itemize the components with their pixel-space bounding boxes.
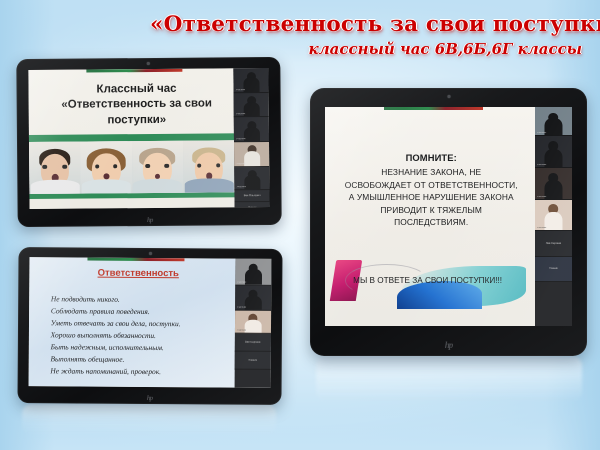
laptop-1-reflection <box>22 404 276 436</box>
webcam-icon <box>147 62 150 65</box>
page-subtitle: классный час 6В,6Б,6Г классы <box>150 40 590 58</box>
child-3 <box>132 140 184 193</box>
slide-1-title: Классный час «Ответственность за свои по… <box>43 81 231 129</box>
participant-thumbnail[interactable]: Участник <box>234 142 269 167</box>
child-4 <box>183 140 235 193</box>
participant-name-tile[interactable]: Ван Ольгович <box>235 190 270 202</box>
collage-title-block: «Ответственность за свои поступки» класс… <box>150 14 590 58</box>
laptop-screen-3: Ответственность Не подводить никого. Соб… <box>29 257 272 388</box>
slide-3-list: Не подводить никого. Соблюдать правила п… <box>50 293 232 378</box>
participant-thumbnail[interactable]: Участник <box>234 117 269 142</box>
slide-2-line-3: А УМЫШЛЕННОЕ НАРУШЕНИЕ ЗАКОНА <box>337 191 525 204</box>
laptop-photo-1: hp Классный час «Ответственность за свои… <box>16 57 281 227</box>
slide-1-children-photo <box>29 140 235 194</box>
child-2 <box>80 141 132 194</box>
laptop-photo-3: hp Ответственность Не подводить никого. … <box>17 247 282 405</box>
hp-logo: hp <box>147 216 152 224</box>
slide-2-line-5: ПОСЛЕДСТВИЯМ. <box>337 216 525 229</box>
participant-name-tile[interactable]: Ученик <box>535 257 572 282</box>
participant-thumbnail[interactable]: Участник <box>235 311 271 334</box>
laptop-screen-1: Классный час «Ответственность за свои по… <box>28 68 269 209</box>
laptop-screen-2: ПОМНИТЕ: НЕЗНАНИЕ ЗАКОНА, НЕ ОСВОБОЖДАЕТ… <box>325 107 572 326</box>
participant-name-tile[interactable]: Ван Сергеев <box>235 334 271 352</box>
participant-thumbnail[interactable]: Участник <box>234 166 269 190</box>
child-1 <box>29 141 81 194</box>
participant-name-tile[interactable]: Ученик <box>234 352 270 370</box>
webcam-icon <box>447 95 450 98</box>
laptop-bezel-3: hp Ответственность Не подводить никого. … <box>17 247 282 405</box>
slide-1-title-line-3: поступки» <box>43 112 230 129</box>
slide-1-title-line-2: «Ответственность за свои <box>43 96 230 113</box>
participant-thumbnail[interactable]: Участник <box>234 93 269 118</box>
slide-2-header: ПОМНИТЕ: <box>337 151 525 165</box>
hp-logo: hp <box>147 394 152 402</box>
zoom-participant-filmstrip-3[interactable]: Участник Участник Участник Ван Сергеев У… <box>234 259 271 388</box>
participant-thumbnail[interactable]: Участник <box>535 136 572 168</box>
page-title: «Ответственность за свои поступки» <box>150 14 590 37</box>
participant-thumbnail[interactable]: Участник <box>235 259 271 286</box>
participant-name-tile[interactable]: Лев Сергеев <box>535 231 572 256</box>
zoom-toolbar-strip <box>384 107 483 110</box>
laptop-bezel-1: hp Классный час «Ответственность за свои… <box>16 57 281 227</box>
laptop-bezel-2: hp ПОМНИТЕ: НЕЗНАНИЕ ЗАКОНА, НЕ ОСВОБОЖД… <box>310 88 587 356</box>
slide-2-line-1: НЕЗНАНИЕ ЗАКОНА, НЕ <box>337 166 525 179</box>
participant-name-tile[interactable]: Ученик <box>235 202 270 209</box>
participant-thumbnail[interactable]: Участник <box>535 200 572 232</box>
zoom-participant-filmstrip-2[interactable]: Участник Участник Участник Участник Лев … <box>535 107 572 326</box>
laptop-photo-2: hp ПОМНИТЕ: НЕЗНАНИЕ ЗАКОНА, НЕ ОСВОБОЖД… <box>310 88 587 356</box>
slide-2-line-4: ПРИВОДИТ К ТЯЖЕЛЫМ <box>337 204 525 217</box>
slide-2-text: ПОМНИТЕ: НЕЗНАНИЕ ЗАКОНА, НЕ ОСВОБОЖДАЕТ… <box>337 151 525 229</box>
slide-2-line-2: ОСВОБОЖДАЕТ ОТ ОТВЕТСТВЕННОСТИ, <box>337 179 525 192</box>
slide-2-decoration: МЫ В ОТВЕТЕ ЗА СВОИ ПОСТУПКИ!!! <box>325 256 526 313</box>
webcam-icon <box>149 252 152 255</box>
slide-2-banner-text: МЫ В ОТВЕТЕ ЗА СВОИ ПОСТУПКИ!!! <box>353 276 498 285</box>
slide-1-title-line-1: Классный час <box>43 81 230 98</box>
participant-thumbnail[interactable]: Участник <box>234 68 269 93</box>
hp-logo: hp <box>445 340 453 350</box>
participant-thumbnail[interactable]: Участник <box>235 285 271 311</box>
zoom-participant-filmstrip-1[interactable]: Участник Участник Участник Участник Учас… <box>234 68 270 207</box>
participant-thumbnail[interactable]: Участник <box>535 107 572 136</box>
participant-thumbnail[interactable]: Участник <box>535 168 572 200</box>
laptop-2-reflection <box>316 356 582 402</box>
list-item: Не ждать напоминаний, проверок. <box>50 365 232 378</box>
slide-3-heading: Ответственность <box>44 268 233 280</box>
